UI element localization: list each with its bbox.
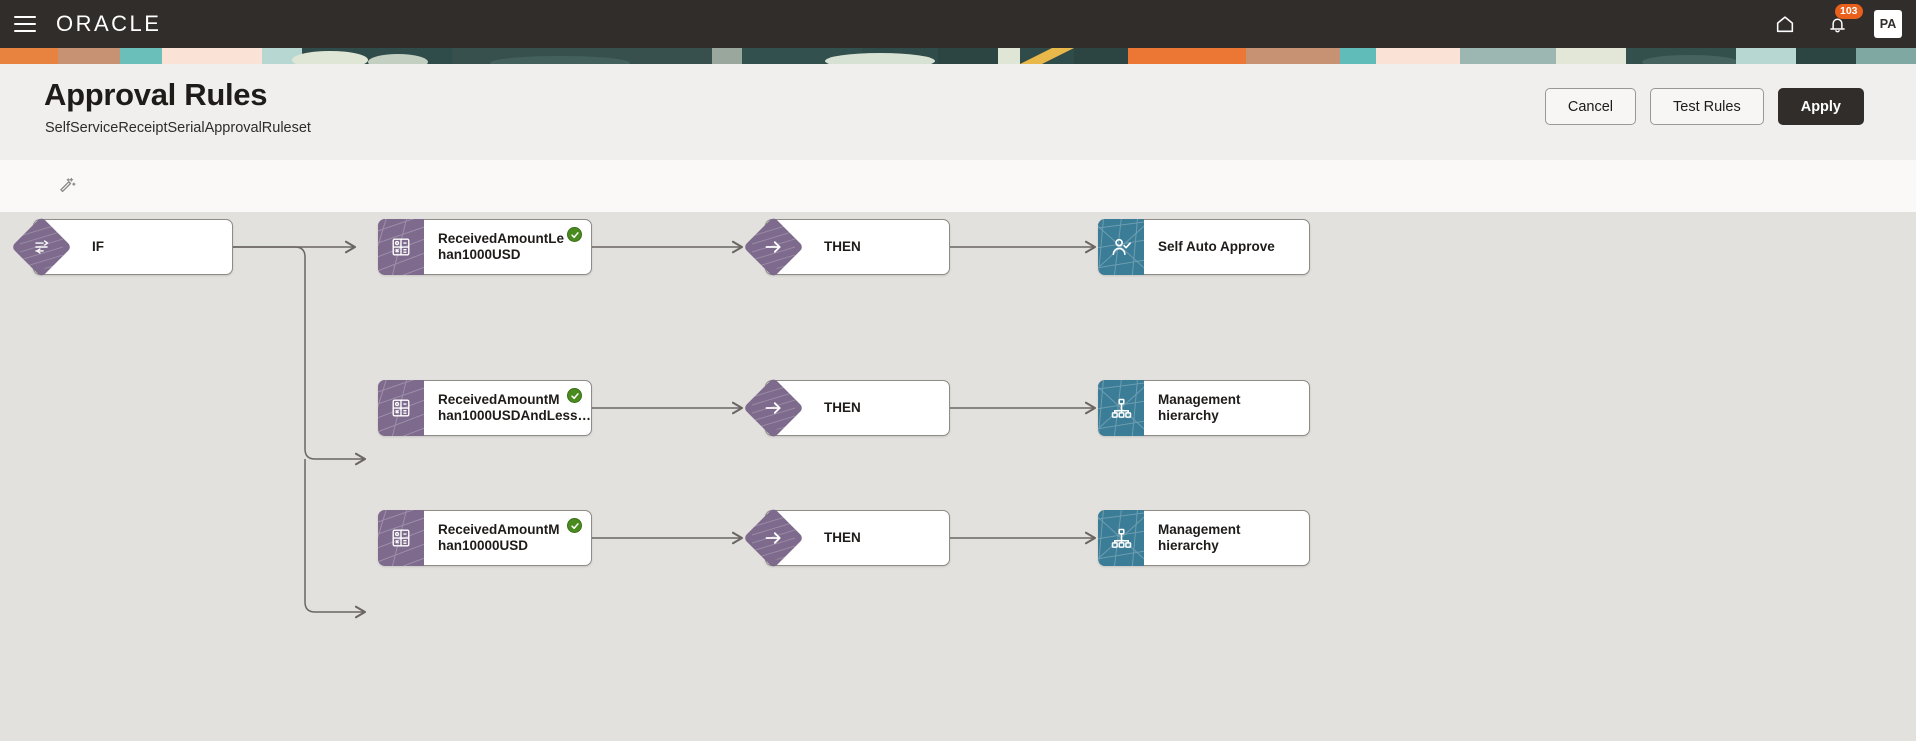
global-header: ORACLE 103 PA — [0, 0, 1916, 48]
action-node[interactable]: Management hierarchy — [1098, 380, 1310, 436]
condition-label-line1: ReceivedAmountLe — [438, 231, 564, 247]
condition-node[interactable]: ReceivedAmountM han10000USD — [378, 510, 592, 566]
home-icon[interactable] — [1770, 9, 1800, 39]
magic-wand-icon[interactable] — [52, 170, 84, 202]
page-header: Approval Rules SelfServiceReceiptSerialA… — [0, 64, 1916, 160]
test-rules-button[interactable]: Test Rules — [1650, 88, 1764, 125]
decorative-banner — [0, 48, 1916, 64]
arrow-right-diamond-icon — [766, 511, 810, 565]
if-start-node[interactable]: IF — [33, 219, 233, 275]
condition-label-line2: han10000USD — [438, 538, 528, 554]
condition-label-line2: han1000USD — [438, 247, 521, 263]
validated-check-icon — [567, 518, 582, 533]
condition-label-line1: ReceivedAmountM — [438, 392, 560, 408]
then-node-label: THEN — [810, 381, 871, 435]
arrow-right-diamond-icon — [766, 220, 810, 274]
then-connector-node[interactable]: THEN — [765, 380, 950, 436]
hierarchy-icon — [1098, 380, 1144, 436]
condition-grid-icon — [378, 510, 424, 566]
hierarchy-icon — [1098, 510, 1144, 566]
then-node-label: THEN — [810, 511, 871, 565]
condition-node-label: ReceivedAmountM han10000USD — [424, 511, 570, 565]
condition-label-line1: ReceivedAmountM — [438, 522, 560, 538]
rules-diamond-icon — [34, 220, 78, 274]
then-node-label: THEN — [810, 220, 871, 274]
validated-check-icon — [567, 227, 582, 242]
page-action-buttons: Cancel Test Rules Apply — [1545, 88, 1864, 125]
condition-node-label: ReceivedAmountLe han1000USD — [424, 220, 574, 274]
action-node-label: Management hierarchy — [1144, 511, 1309, 565]
condition-node-label: ReceivedAmountM han1000USDAndLess… — [424, 381, 591, 435]
canvas-toolbar — [0, 160, 1916, 212]
action-node-label: Management hierarchy — [1144, 381, 1309, 435]
then-connector-node[interactable]: THEN — [765, 219, 950, 275]
if-node-label: IF — [78, 220, 114, 274]
condition-label-line2: han1000USDAndLess… — [438, 408, 591, 424]
avatar[interactable]: PA — [1874, 10, 1902, 38]
cancel-button[interactable]: Cancel — [1545, 88, 1636, 125]
oracle-logo[interactable]: ORACLE — [56, 11, 161, 37]
action-node[interactable]: Self Auto Approve — [1098, 219, 1310, 275]
page-title: Approval Rules — [44, 77, 267, 113]
action-node[interactable]: Management hierarchy — [1098, 510, 1310, 566]
bell-icon[interactable]: 103 — [1822, 9, 1852, 39]
page-subtitle: SelfServiceReceiptSerialApprovalRuleset — [45, 120, 311, 136]
rules-flow-canvas[interactable]: IF ReceivedAmountLe han1000USD — [0, 212, 1916, 741]
condition-node[interactable]: ReceivedAmountM han1000USDAndLess… — [378, 380, 592, 436]
arrow-right-diamond-icon — [766, 381, 810, 435]
validated-check-icon — [567, 388, 582, 403]
condition-node[interactable]: ReceivedAmountLe han1000USD — [378, 219, 592, 275]
notification-count-badge[interactable]: 103 — [1835, 4, 1863, 19]
condition-grid-icon — [378, 219, 424, 275]
action-node-label: Self Auto Approve — [1144, 220, 1285, 274]
apply-button[interactable]: Apply — [1778, 88, 1864, 125]
header-utility-bar: 103 PA — [1770, 0, 1902, 48]
flow-connectors — [0, 212, 1916, 741]
condition-grid-icon — [378, 380, 424, 436]
hamburger-menu-icon[interactable] — [14, 16, 36, 32]
then-connector-node[interactable]: THEN — [765, 510, 950, 566]
person-check-icon — [1098, 219, 1144, 275]
